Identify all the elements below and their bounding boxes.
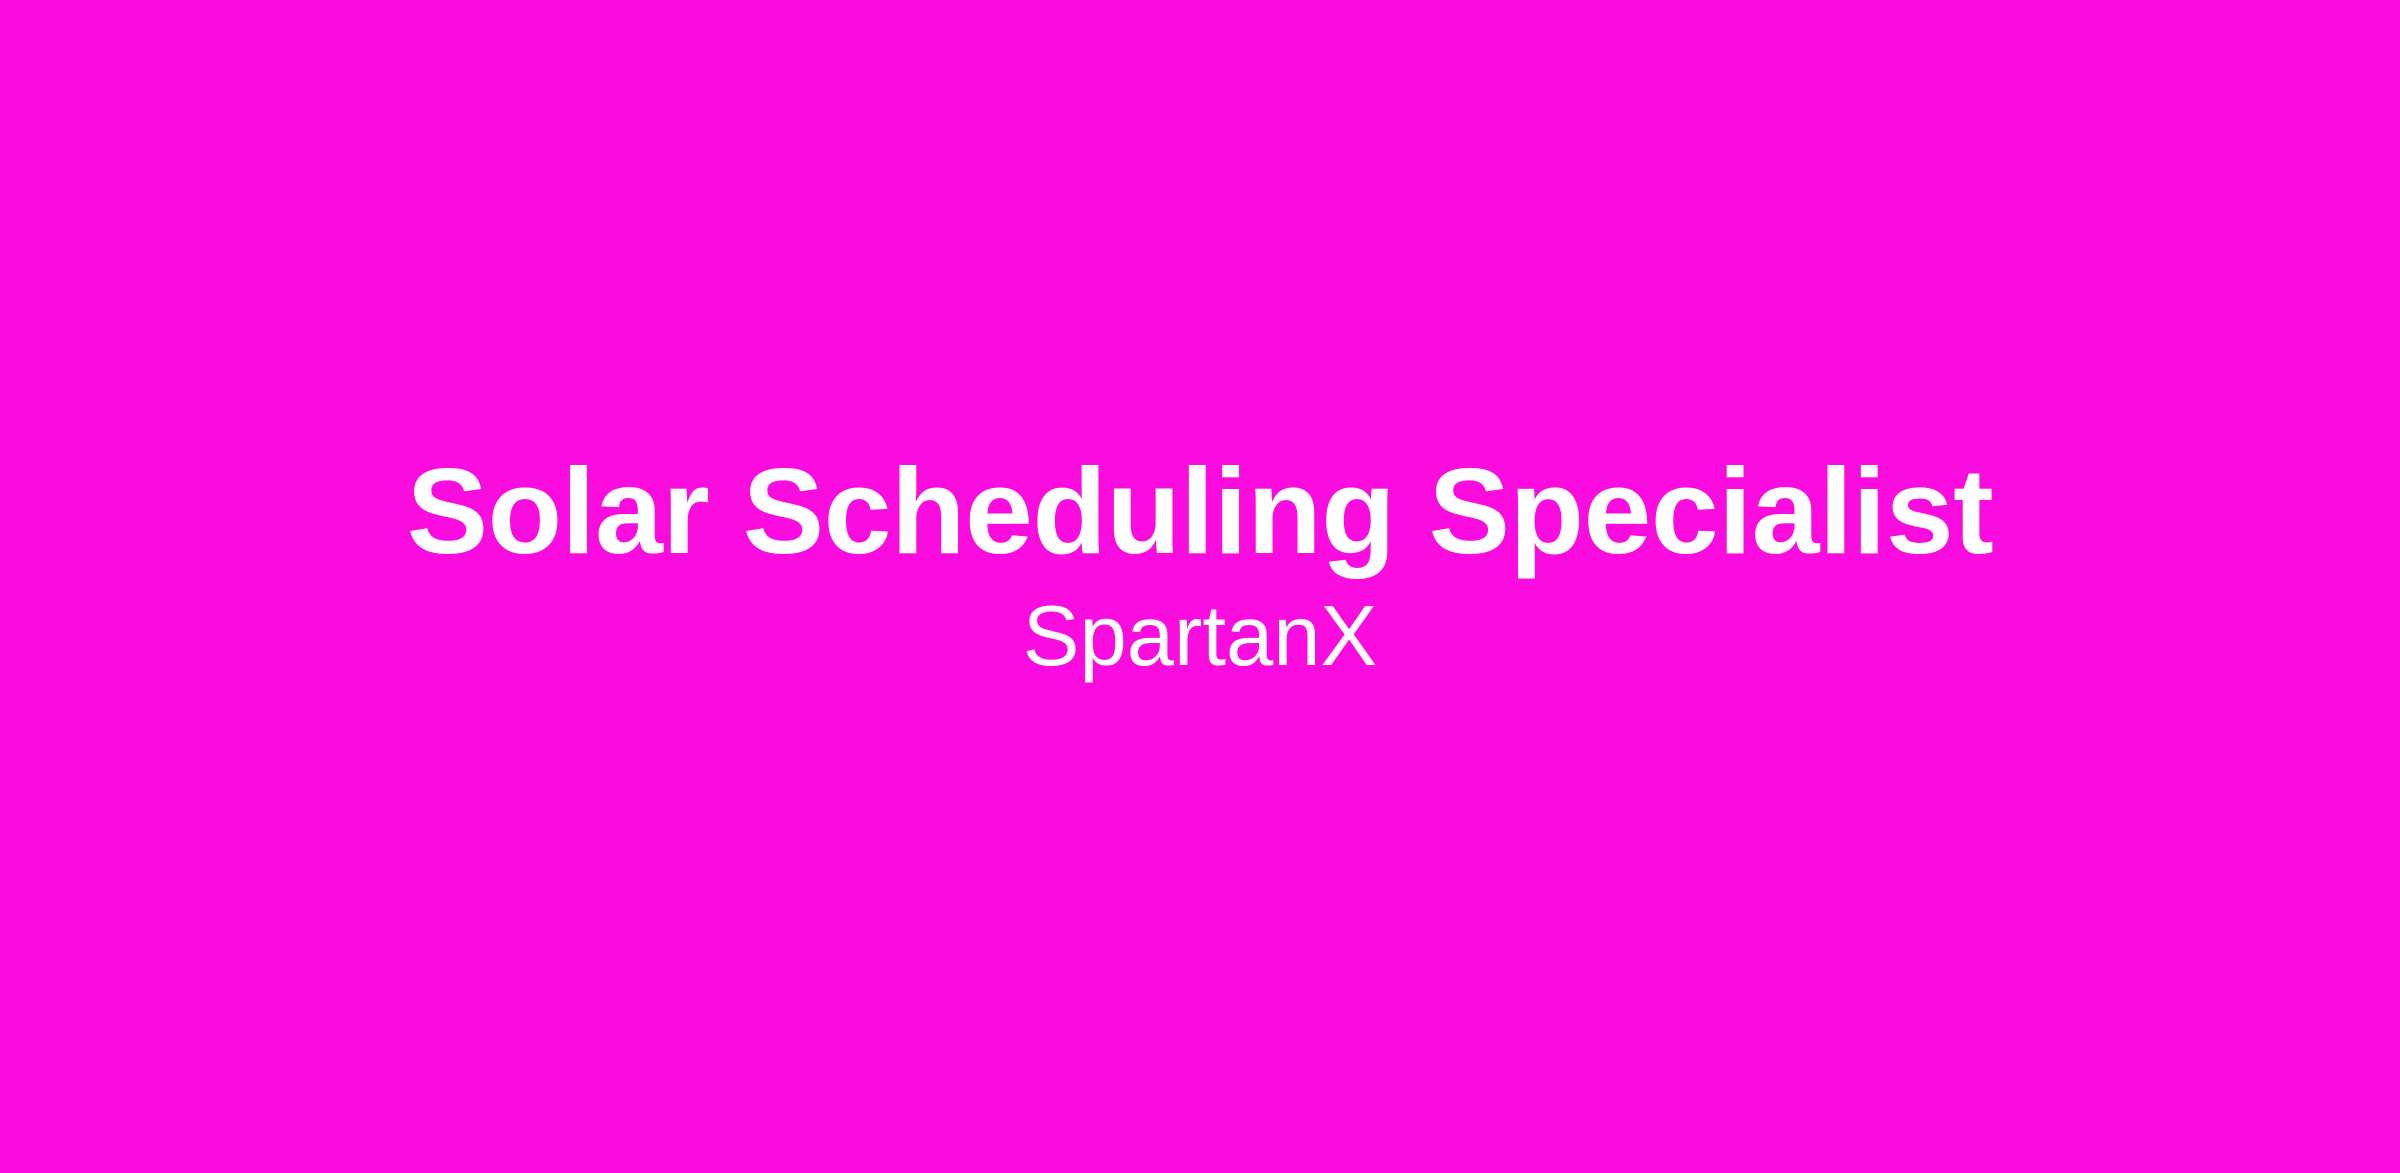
page-subtitle: SpartanX: [1023, 590, 1377, 684]
page-title: Solar Scheduling Specialist: [407, 447, 1994, 576]
headline-group: Solar Scheduling Specialist SpartanX: [407, 447, 1994, 684]
title-card: Solar Scheduling Specialist SpartanX: [0, 0, 2400, 1173]
